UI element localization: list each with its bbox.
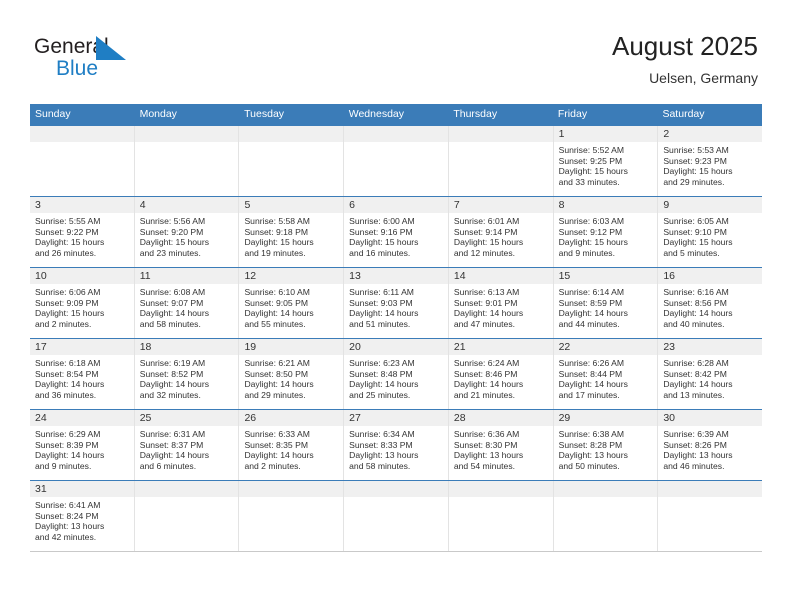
day-number: [239, 126, 343, 142]
daylight-text-line2: and 9 minutes.: [35, 461, 130, 472]
daylight-text-line2: and 13 minutes.: [663, 390, 758, 401]
daylight-text-line2: and 46 minutes.: [663, 461, 758, 472]
daylight-text-line2: and 29 minutes.: [244, 390, 339, 401]
sunset-text: Sunset: 9:10 PM: [663, 227, 758, 238]
sunrise-text: Sunrise: 6:24 AM: [454, 358, 549, 369]
week-row: 17Sunrise: 6:18 AMSunset: 8:54 PMDayligh…: [30, 338, 762, 409]
day-number: 29: [554, 410, 658, 426]
day-number: [449, 126, 553, 142]
day-details: Sunrise: 6:19 AMSunset: 8:52 PMDaylight:…: [135, 355, 239, 402]
weekday-header-friday: Friday: [553, 104, 658, 125]
sunset-text: Sunset: 8:54 PM: [35, 369, 130, 380]
day-number: 3: [30, 197, 134, 213]
weekday-header-thursday: Thursday: [448, 104, 553, 125]
day-details: Sunrise: 6:24 AMSunset: 8:46 PMDaylight:…: [449, 355, 553, 402]
day-number: [449, 481, 553, 497]
sunrise-text: Sunrise: 6:00 AM: [349, 216, 444, 227]
day-number: 12: [239, 268, 343, 284]
sunset-text: Sunset: 8:42 PM: [663, 369, 758, 380]
day-number: 30: [658, 410, 762, 426]
sunset-text: Sunset: 8:46 PM: [454, 369, 549, 380]
sunrise-text: Sunrise: 6:39 AM: [663, 429, 758, 440]
day-cell-empty: [554, 481, 659, 551]
daylight-text-line2: and 16 minutes.: [349, 248, 444, 259]
day-details: Sunrise: 5:52 AMSunset: 9:25 PMDaylight:…: [554, 142, 658, 189]
sunset-text: Sunset: 9:12 PM: [559, 227, 654, 238]
sunset-text: Sunset: 8:52 PM: [140, 369, 235, 380]
daylight-text-line1: Daylight: 13 hours: [663, 450, 758, 461]
day-cell[interactable]: 17Sunrise: 6:18 AMSunset: 8:54 PMDayligh…: [30, 339, 135, 409]
sunrise-text: Sunrise: 6:10 AM: [244, 287, 339, 298]
sunrise-text: Sunrise: 6:13 AM: [454, 287, 549, 298]
sunrise-text: Sunrise: 6:05 AM: [663, 216, 758, 227]
daylight-text-line1: Daylight: 14 hours: [454, 308, 549, 319]
day-details: Sunrise: 5:55 AMSunset: 9:22 PMDaylight:…: [30, 213, 134, 260]
day-number: [554, 481, 658, 497]
sunset-text: Sunset: 8:30 PM: [454, 440, 549, 451]
day-number: 4: [135, 197, 239, 213]
daylight-text-line2: and 58 minutes.: [349, 461, 444, 472]
daylight-text-line1: Daylight: 15 hours: [454, 237, 549, 248]
day-cell[interactable]: 4Sunrise: 5:56 AMSunset: 9:20 PMDaylight…: [135, 197, 240, 267]
daylight-text-line1: Daylight: 15 hours: [663, 237, 758, 248]
day-cell[interactable]: 15Sunrise: 6:14 AMSunset: 8:59 PMDayligh…: [554, 268, 659, 338]
day-cell[interactable]: 2Sunrise: 5:53 AMSunset: 9:23 PMDaylight…: [658, 126, 762, 196]
daylight-text-line1: Daylight: 15 hours: [663, 166, 758, 177]
daylight-text-line1: Daylight: 15 hours: [140, 237, 235, 248]
day-cell[interactable]: 25Sunrise: 6:31 AMSunset: 8:37 PMDayligh…: [135, 410, 240, 480]
day-number: 6: [344, 197, 448, 213]
day-number: 7: [449, 197, 553, 213]
weekday-header-tuesday: Tuesday: [239, 104, 344, 125]
sunrise-text: Sunrise: 6:19 AM: [140, 358, 235, 369]
sunset-text: Sunset: 9:07 PM: [140, 298, 235, 309]
day-number: [344, 481, 448, 497]
week-row: 24Sunrise: 6:29 AMSunset: 8:39 PMDayligh…: [30, 409, 762, 480]
day-details: Sunrise: 5:56 AMSunset: 9:20 PMDaylight:…: [135, 213, 239, 260]
day-cell-empty: [449, 481, 554, 551]
day-cell[interactable]: 10Sunrise: 6:06 AMSunset: 9:09 PMDayligh…: [30, 268, 135, 338]
day-details: Sunrise: 6:28 AMSunset: 8:42 PMDaylight:…: [658, 355, 762, 402]
weeks-container: 1Sunrise: 5:52 AMSunset: 9:25 PMDaylight…: [30, 125, 762, 552]
daylight-text-line1: Daylight: 14 hours: [349, 379, 444, 390]
daylight-text-line2: and 42 minutes.: [35, 532, 130, 543]
weekday-header-wednesday: Wednesday: [344, 104, 449, 125]
day-number: 26: [239, 410, 343, 426]
day-details: Sunrise: 6:03 AMSunset: 9:12 PMDaylight:…: [554, 213, 658, 260]
sunset-text: Sunset: 9:18 PM: [244, 227, 339, 238]
day-details: Sunrise: 6:05 AMSunset: 9:10 PMDaylight:…: [658, 213, 762, 260]
sunset-text: Sunset: 9:03 PM: [349, 298, 444, 309]
day-cell[interactable]: 30Sunrise: 6:39 AMSunset: 8:26 PMDayligh…: [658, 410, 762, 480]
day-number: [658, 481, 762, 497]
sunrise-text: Sunrise: 6:21 AM: [244, 358, 339, 369]
day-details: Sunrise: 6:14 AMSunset: 8:59 PMDaylight:…: [554, 284, 658, 331]
sunrise-text: Sunrise: 6:01 AM: [454, 216, 549, 227]
day-number: 22: [554, 339, 658, 355]
page-header: General Blue August 2025 Uelsen, Germany: [34, 30, 758, 98]
sunset-text: Sunset: 8:37 PM: [140, 440, 235, 451]
daylight-text-line1: Daylight: 14 hours: [140, 450, 235, 461]
daylight-text-line1: Daylight: 14 hours: [244, 308, 339, 319]
triangle-icon: [96, 36, 128, 60]
day-number: 19: [239, 339, 343, 355]
sunset-text: Sunset: 8:44 PM: [559, 369, 654, 380]
weekday-header-row: Sunday Monday Tuesday Wednesday Thursday…: [30, 104, 762, 125]
daylight-text-line1: Daylight: 15 hours: [244, 237, 339, 248]
sunset-text: Sunset: 8:59 PM: [559, 298, 654, 309]
day-cell[interactable]: 27Sunrise: 6:34 AMSunset: 8:33 PMDayligh…: [344, 410, 449, 480]
daylight-text-line1: Daylight: 14 hours: [244, 379, 339, 390]
day-cell[interactable]: 14Sunrise: 6:13 AMSunset: 9:01 PMDayligh…: [449, 268, 554, 338]
day-cell-empty: [658, 481, 762, 551]
week-row: 1Sunrise: 5:52 AMSunset: 9:25 PMDaylight…: [30, 125, 762, 196]
daylight-text-line2: and 40 minutes.: [663, 319, 758, 330]
daylight-text-line2: and 50 minutes.: [559, 461, 654, 472]
day-number: 20: [344, 339, 448, 355]
daylight-text-line2: and 55 minutes.: [244, 319, 339, 330]
sunset-text: Sunset: 8:24 PM: [35, 511, 130, 522]
day-number: 28: [449, 410, 553, 426]
day-details: Sunrise: 6:29 AMSunset: 8:39 PMDaylight:…: [30, 426, 134, 473]
day-cell[interactable]: 6Sunrise: 6:00 AMSunset: 9:16 PMDaylight…: [344, 197, 449, 267]
day-details: Sunrise: 6:06 AMSunset: 9:09 PMDaylight:…: [30, 284, 134, 331]
day-number: 14: [449, 268, 553, 284]
day-number: 13: [344, 268, 448, 284]
daylight-text-line1: Daylight: 14 hours: [140, 308, 235, 319]
day-cell[interactable]: 3Sunrise: 5:55 AMSunset: 9:22 PMDaylight…: [30, 197, 135, 267]
sunset-text: Sunset: 8:28 PM: [559, 440, 654, 451]
daylight-text-line1: Daylight: 15 hours: [349, 237, 444, 248]
daylight-text-line1: Daylight: 15 hours: [35, 308, 130, 319]
day-number: 25: [135, 410, 239, 426]
daylight-text-line2: and 44 minutes.: [559, 319, 654, 330]
sunrise-text: Sunrise: 6:28 AM: [663, 358, 758, 369]
day-number: 8: [554, 197, 658, 213]
daylight-text-line1: Daylight: 14 hours: [559, 379, 654, 390]
sunset-text: Sunset: 8:33 PM: [349, 440, 444, 451]
day-number: [135, 481, 239, 497]
day-cell-empty: [135, 126, 240, 196]
daylight-text-line1: Daylight: 15 hours: [35, 237, 130, 248]
sunset-text: Sunset: 9:22 PM: [35, 227, 130, 238]
day-cell[interactable]: 23Sunrise: 6:28 AMSunset: 8:42 PMDayligh…: [658, 339, 762, 409]
day-cell[interactable]: 5Sunrise: 5:58 AMSunset: 9:18 PMDaylight…: [239, 197, 344, 267]
day-cell[interactable]: 18Sunrise: 6:19 AMSunset: 8:52 PMDayligh…: [135, 339, 240, 409]
sunrise-text: Sunrise: 5:56 AM: [140, 216, 235, 227]
sunrise-text: Sunrise: 6:03 AM: [559, 216, 654, 227]
calendar-grid: Sunday Monday Tuesday Wednesday Thursday…: [30, 104, 762, 552]
day-cell[interactable]: 1Sunrise: 5:52 AMSunset: 9:25 PMDaylight…: [554, 126, 659, 196]
day-details: Sunrise: 6:26 AMSunset: 8:44 PMDaylight:…: [554, 355, 658, 402]
day-number: [344, 126, 448, 142]
sunrise-text: Sunrise: 5:53 AM: [663, 145, 758, 156]
daylight-text-line1: Daylight: 13 hours: [559, 450, 654, 461]
sunset-text: Sunset: 9:20 PM: [140, 227, 235, 238]
day-cell[interactable]: 20Sunrise: 6:23 AMSunset: 8:48 PMDayligh…: [344, 339, 449, 409]
sunrise-text: Sunrise: 6:11 AM: [349, 287, 444, 298]
sunset-text: Sunset: 9:01 PM: [454, 298, 549, 309]
sunrise-text: Sunrise: 6:41 AM: [35, 500, 130, 511]
daylight-text-line2: and 26 minutes.: [35, 248, 130, 259]
sunrise-text: Sunrise: 6:33 AM: [244, 429, 339, 440]
day-details: Sunrise: 6:08 AMSunset: 9:07 PMDaylight:…: [135, 284, 239, 331]
day-cell[interactable]: 8Sunrise: 6:03 AMSunset: 9:12 PMDaylight…: [554, 197, 659, 267]
weekday-header-saturday: Saturday: [657, 104, 762, 125]
day-cell[interactable]: 28Sunrise: 6:36 AMSunset: 8:30 PMDayligh…: [449, 410, 554, 480]
week-row: 31Sunrise: 6:41 AMSunset: 8:24 PMDayligh…: [30, 480, 762, 552]
day-details: Sunrise: 6:31 AMSunset: 8:37 PMDaylight:…: [135, 426, 239, 473]
daylight-text-line2: and 23 minutes.: [140, 248, 235, 259]
daylight-text-line2: and 29 minutes.: [663, 177, 758, 188]
daylight-text-line2: and 2 minutes.: [244, 461, 339, 472]
page-subtitle: Uelsen, Germany: [612, 68, 758, 88]
daylight-text-line2: and 47 minutes.: [454, 319, 549, 330]
day-cell[interactable]: 12Sunrise: 6:10 AMSunset: 9:05 PMDayligh…: [239, 268, 344, 338]
day-number: 16: [658, 268, 762, 284]
daylight-text-line2: and 54 minutes.: [454, 461, 549, 472]
day-cell[interactable]: 7Sunrise: 6:01 AMSunset: 9:14 PMDaylight…: [449, 197, 554, 267]
day-number: 17: [30, 339, 134, 355]
day-cell[interactable]: 13Sunrise: 6:11 AMSunset: 9:03 PMDayligh…: [344, 268, 449, 338]
day-cell-empty: [449, 126, 554, 196]
weekday-header-monday: Monday: [135, 104, 240, 125]
sunrise-text: Sunrise: 6:31 AM: [140, 429, 235, 440]
day-details: Sunrise: 6:16 AMSunset: 8:56 PMDaylight:…: [658, 284, 762, 331]
daylight-text-line1: Daylight: 14 hours: [140, 379, 235, 390]
sunset-text: Sunset: 9:14 PM: [454, 227, 549, 238]
day-number: 10: [30, 268, 134, 284]
daylight-text-line2: and 5 minutes.: [663, 248, 758, 259]
daylight-text-line1: Daylight: 13 hours: [349, 450, 444, 461]
sunrise-text: Sunrise: 5:52 AM: [559, 145, 654, 156]
daylight-text-line2: and 12 minutes.: [454, 248, 549, 259]
week-row: 10Sunrise: 6:06 AMSunset: 9:09 PMDayligh…: [30, 267, 762, 338]
daylight-text-line2: and 21 minutes.: [454, 390, 549, 401]
sunset-text: Sunset: 8:39 PM: [35, 440, 130, 451]
sunset-text: Sunset: 9:16 PM: [349, 227, 444, 238]
sunrise-text: Sunrise: 6:36 AM: [454, 429, 549, 440]
sunset-text: Sunset: 9:25 PM: [559, 156, 654, 167]
day-details: Sunrise: 6:11 AMSunset: 9:03 PMDaylight:…: [344, 284, 448, 331]
sunrise-text: Sunrise: 6:14 AM: [559, 287, 654, 298]
day-cell-empty: [344, 126, 449, 196]
day-number: 15: [554, 268, 658, 284]
day-cell-empty: [30, 126, 135, 196]
daylight-text-line1: Daylight: 14 hours: [244, 450, 339, 461]
daylight-text-line2: and 36 minutes.: [35, 390, 130, 401]
sunrise-text: Sunrise: 6:34 AM: [349, 429, 444, 440]
daylight-text-line1: Daylight: 14 hours: [35, 379, 130, 390]
weekday-header-sunday: Sunday: [30, 104, 135, 125]
day-number: 18: [135, 339, 239, 355]
day-cell[interactable]: 16Sunrise: 6:16 AMSunset: 8:56 PMDayligh…: [658, 268, 762, 338]
day-details: Sunrise: 5:53 AMSunset: 9:23 PMDaylight:…: [658, 142, 762, 189]
daylight-text-line2: and 17 minutes.: [559, 390, 654, 401]
daylight-text-line1: Daylight: 15 hours: [559, 166, 654, 177]
sunset-text: Sunset: 8:50 PM: [244, 369, 339, 380]
day-details: Sunrise: 6:36 AMSunset: 8:30 PMDaylight:…: [449, 426, 553, 473]
day-details: Sunrise: 6:10 AMSunset: 9:05 PMDaylight:…: [239, 284, 343, 331]
day-cell[interactable]: 22Sunrise: 6:26 AMSunset: 8:44 PMDayligh…: [554, 339, 659, 409]
brand-name-general: General: [34, 36, 234, 58]
day-cell-empty: [239, 481, 344, 551]
day-details: Sunrise: 6:34 AMSunset: 8:33 PMDaylight:…: [344, 426, 448, 473]
daylight-text-line1: Daylight: 14 hours: [663, 308, 758, 319]
day-number: [30, 126, 134, 142]
sunset-text: Sunset: 8:56 PM: [663, 298, 758, 309]
day-details: Sunrise: 6:13 AMSunset: 9:01 PMDaylight:…: [449, 284, 553, 331]
day-number: 1: [554, 126, 658, 142]
day-details: Sunrise: 6:38 AMSunset: 8:28 PMDaylight:…: [554, 426, 658, 473]
day-details: Sunrise: 6:01 AMSunset: 9:14 PMDaylight:…: [449, 213, 553, 260]
sunset-text: Sunset: 9:05 PM: [244, 298, 339, 309]
daylight-text-line1: Daylight: 14 hours: [349, 308, 444, 319]
day-number: [239, 481, 343, 497]
day-number: 27: [344, 410, 448, 426]
daylight-text-line2: and 19 minutes.: [244, 248, 339, 259]
daylight-text-line2: and 32 minutes.: [140, 390, 235, 401]
day-number: 31: [30, 481, 134, 497]
day-number: 9: [658, 197, 762, 213]
day-cell[interactable]: 11Sunrise: 6:08 AMSunset: 9:07 PMDayligh…: [135, 268, 240, 338]
sunset-text: Sunset: 8:35 PM: [244, 440, 339, 451]
sunset-text: Sunset: 8:26 PM: [663, 440, 758, 451]
day-details: Sunrise: 6:39 AMSunset: 8:26 PMDaylight:…: [658, 426, 762, 473]
daylight-text-line1: Daylight: 13 hours: [35, 521, 130, 532]
day-details: Sunrise: 6:21 AMSunset: 8:50 PMDaylight:…: [239, 355, 343, 402]
day-number: 11: [135, 268, 239, 284]
calendar-page: General Blue August 2025 Uelsen, Germany…: [0, 0, 792, 612]
day-cell[interactable]: 21Sunrise: 6:24 AMSunset: 8:46 PMDayligh…: [449, 339, 554, 409]
sunrise-text: Sunrise: 6:29 AM: [35, 429, 130, 440]
daylight-text-line1: Daylight: 15 hours: [559, 237, 654, 248]
week-row: 3Sunrise: 5:55 AMSunset: 9:22 PMDaylight…: [30, 196, 762, 267]
day-cell[interactable]: 19Sunrise: 6:21 AMSunset: 8:50 PMDayligh…: [239, 339, 344, 409]
sunset-text: Sunset: 9:23 PM: [663, 156, 758, 167]
sunset-text: Sunset: 9:09 PM: [35, 298, 130, 309]
sunrise-text: Sunrise: 6:23 AM: [349, 358, 444, 369]
daylight-text-line2: and 58 minutes.: [140, 319, 235, 330]
sunrise-text: Sunrise: 6:08 AM: [140, 287, 235, 298]
sunrise-text: Sunrise: 6:18 AM: [35, 358, 130, 369]
daylight-text-line1: Daylight: 13 hours: [454, 450, 549, 461]
day-cell[interactable]: 9Sunrise: 6:05 AMSunset: 9:10 PMDaylight…: [658, 197, 762, 267]
sunrise-text: Sunrise: 6:06 AM: [35, 287, 130, 298]
day-cell[interactable]: 29Sunrise: 6:38 AMSunset: 8:28 PMDayligh…: [554, 410, 659, 480]
daylight-text-line1: Daylight: 14 hours: [559, 308, 654, 319]
day-details: Sunrise: 6:41 AMSunset: 8:24 PMDaylight:…: [30, 497, 134, 544]
daylight-text-line2: and 25 minutes.: [349, 390, 444, 401]
sunrise-text: Sunrise: 6:38 AM: [559, 429, 654, 440]
day-details: Sunrise: 6:23 AMSunset: 8:48 PMDaylight:…: [344, 355, 448, 402]
brand-name-blue: Blue: [56, 58, 234, 80]
sunrise-text: Sunrise: 6:26 AM: [559, 358, 654, 369]
daylight-text-line2: and 9 minutes.: [559, 248, 654, 259]
day-cell-empty: [344, 481, 449, 551]
daylight-text-line2: and 6 minutes.: [140, 461, 235, 472]
day-number: [135, 126, 239, 142]
day-cell[interactable]: 24Sunrise: 6:29 AMSunset: 8:39 PMDayligh…: [30, 410, 135, 480]
daylight-text-line1: Daylight: 14 hours: [663, 379, 758, 390]
sunrise-text: Sunrise: 5:58 AM: [244, 216, 339, 227]
daylight-text-line1: Daylight: 14 hours: [454, 379, 549, 390]
daylight-text-line2: and 33 minutes.: [559, 177, 654, 188]
title-block: August 2025 Uelsen, Germany: [612, 30, 758, 88]
sunrise-text: Sunrise: 5:55 AM: [35, 216, 130, 227]
day-cell-empty: [135, 481, 240, 551]
day-cell-empty: [239, 126, 344, 196]
day-details: Sunrise: 5:58 AMSunset: 9:18 PMDaylight:…: [239, 213, 343, 260]
day-number: 2: [658, 126, 762, 142]
day-number: 5: [239, 197, 343, 213]
day-details: Sunrise: 6:00 AMSunset: 9:16 PMDaylight:…: [344, 213, 448, 260]
day-number: 24: [30, 410, 134, 426]
day-number: 23: [658, 339, 762, 355]
day-details: Sunrise: 6:33 AMSunset: 8:35 PMDaylight:…: [239, 426, 343, 473]
daylight-text-line2: and 51 minutes.: [349, 319, 444, 330]
page-title: August 2025: [612, 30, 758, 62]
daylight-text-line1: Daylight: 14 hours: [35, 450, 130, 461]
brand-logo[interactable]: General Blue: [34, 30, 234, 96]
sunrise-text: Sunrise: 6:16 AM: [663, 287, 758, 298]
day-details: Sunrise: 6:18 AMSunset: 8:54 PMDaylight:…: [30, 355, 134, 402]
daylight-text-line2: and 2 minutes.: [35, 319, 130, 330]
day-number: 21: [449, 339, 553, 355]
day-cell[interactable]: 31Sunrise: 6:41 AMSunset: 8:24 PMDayligh…: [30, 481, 135, 551]
sunset-text: Sunset: 8:48 PM: [349, 369, 444, 380]
day-cell[interactable]: 26Sunrise: 6:33 AMSunset: 8:35 PMDayligh…: [239, 410, 344, 480]
